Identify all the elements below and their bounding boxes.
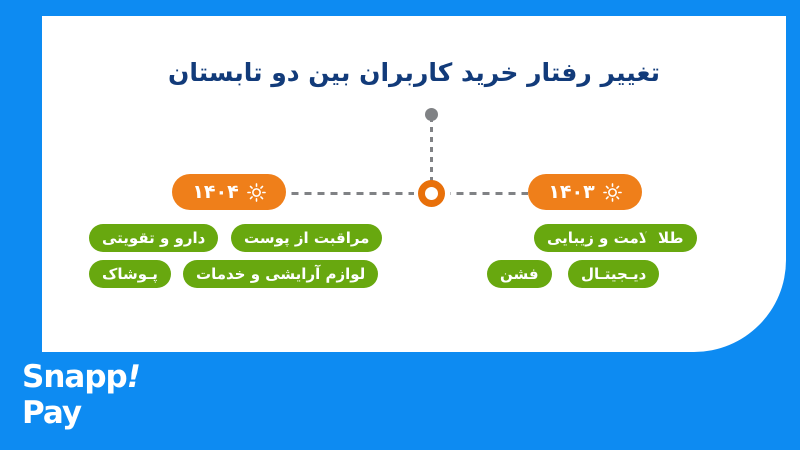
year-badge-1403[interactable]: ۱۴۰۳ [528, 174, 642, 210]
logo-word-pay: Pay [22, 398, 140, 429]
category-pill-skincare[interactable]: مراقبت از پوست [231, 224, 382, 252]
year-badge-1404[interactable]: ۱۴۰۴ [172, 174, 286, 210]
sun-icon [603, 183, 622, 202]
logo-word-snapp: Snapp [22, 359, 127, 395]
infographic-canvas: تغییر رفتار خرید کاربران بین دو تابستان [0, 0, 800, 450]
dashed-line-icon-left [286, 192, 414, 195]
category-pill-medicine[interactable]: دارو و تقویتی [89, 224, 218, 252]
category-pill-cosmetics[interactable]: لوازم آرایشی و خدمات [183, 260, 378, 288]
circle-node-icon [418, 180, 445, 207]
snapp-pay-logo: Snapp! Pay [22, 362, 140, 429]
year-label: ۱۴۰۳ [548, 183, 594, 202]
dashed-line-icon-right [450, 192, 528, 195]
category-pill-gold[interactable]: طلا [645, 224, 697, 252]
sun-icon [247, 183, 266, 202]
category-pill-fashion[interactable]: فشن [487, 260, 552, 288]
page-title: تغییر رفتار خرید کاربران بین دو تابستان [42, 58, 786, 87]
category-pill-digital[interactable]: دیـجیتـال [568, 260, 659, 288]
category-pill-apparel[interactable]: پـوشاک [89, 260, 171, 288]
dashed-line-icon-vertical [430, 118, 433, 186]
year-label: ۱۴۰۴ [192, 183, 238, 202]
logo-exclamation: ! [127, 359, 140, 395]
